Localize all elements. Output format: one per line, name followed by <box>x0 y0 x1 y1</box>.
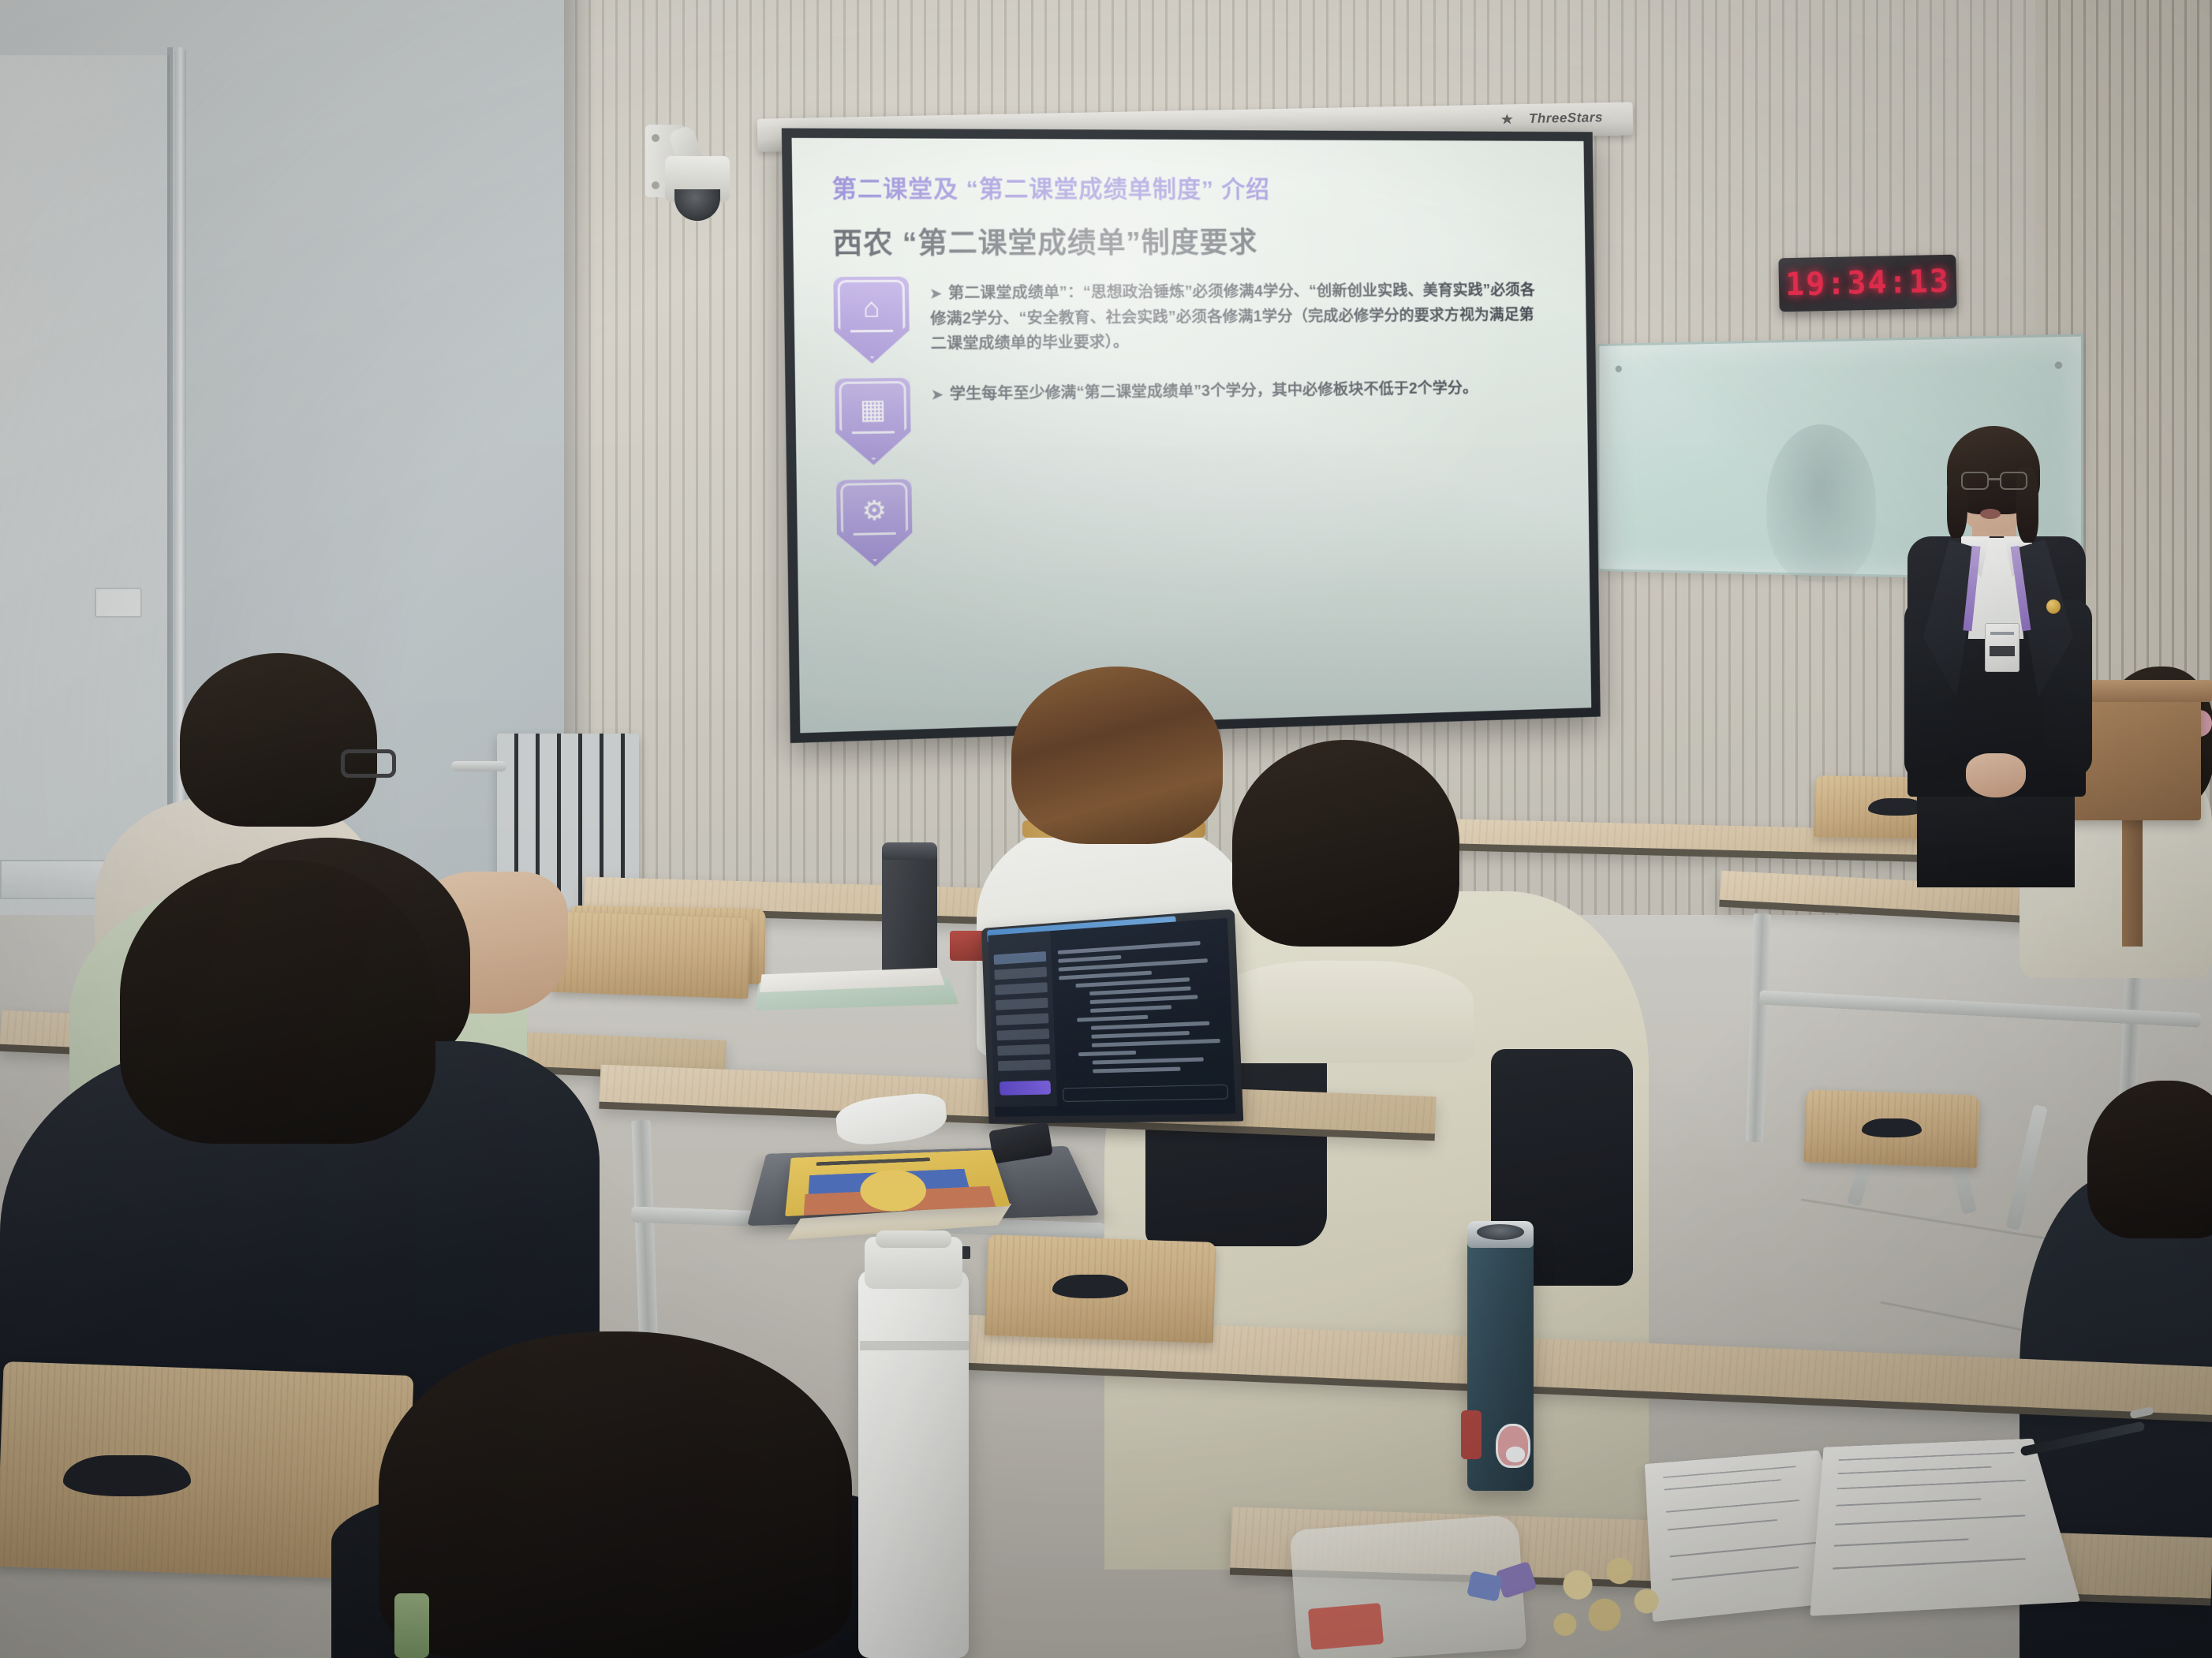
slide-bullet-item: ▦ ➤学生每年至少修满“第二课堂成绩单”3个学分，其中必修板块不低于2个学分。 <box>835 371 1558 465</box>
chat-text-line <box>1093 1057 1205 1064</box>
jacket-hood <box>1213 961 1474 1063</box>
gears-shield-icon: ⚙ <box>836 479 913 567</box>
star-icon <box>1501 114 1513 124</box>
digital-wall-clock: 19:34:13 <box>1778 255 1956 312</box>
radiator-pipe <box>451 761 506 771</box>
bar-chart-shield-glyph: ▦ <box>835 395 910 424</box>
shield-underline <box>854 532 896 536</box>
chat-text-line <box>1089 986 1190 995</box>
chat-text-line <box>1059 971 1151 980</box>
clock-time-display: 19:34:13 <box>1785 263 1951 303</box>
textbook <box>785 1150 1011 1216</box>
shield-underline <box>852 431 895 434</box>
gears-shield-glyph: ⚙ <box>836 497 912 525</box>
chat-text-line <box>1058 955 1121 963</box>
presenter-mouth <box>1980 509 2001 519</box>
bullet-arrow-icon: ➤ <box>932 387 943 402</box>
badge-photo-strip <box>1990 646 2015 656</box>
chat-text-line <box>1090 995 1198 1004</box>
snack-contents <box>1534 1537 1677 1649</box>
camera-mount-screw <box>652 134 659 142</box>
wall-outlet-box <box>95 588 142 618</box>
slide-bullet-body: 第二课堂成绩单”：“思想政治锤炼”必须修满4学分、“创新创业实践、美育实践”必须… <box>930 282 1535 353</box>
presentation-slide: 第二课堂及 “第二课堂成绩单制度” 介绍 西农 “第二课堂成绩单”制度要求 ⌂ … <box>792 138 1592 734</box>
sidebar-item[interactable] <box>996 998 1048 1010</box>
bottle-band <box>860 1341 969 1350</box>
chat-text-line <box>1058 941 1201 954</box>
slide-bullet-item: ⚙ <box>836 468 1560 567</box>
black-thermos <box>882 850 937 984</box>
sidebar-item[interactable] <box>998 1059 1051 1071</box>
home-shield-icon: ⌂ <box>833 277 910 364</box>
slide-bullet-text: ➤第二课堂成绩单”：“思想政治锤炼”必须修满4学分、“创新创业实践、美育实践”必… <box>930 274 1549 357</box>
open-notebook <box>1649 1388 2059 1649</box>
laptop-screen[interactable] <box>981 909 1243 1124</box>
slide-title: 西农 “第二课堂成绩单”制度要求 <box>832 220 1555 263</box>
chair-cloud-handle-icon <box>1862 1118 1922 1137</box>
chair-back-rest <box>551 912 750 999</box>
snack-bag-label <box>1308 1603 1384 1650</box>
sidebar-item[interactable] <box>997 1044 1050 1056</box>
green-stem-object <box>394 1593 429 1658</box>
student-hair <box>180 653 377 827</box>
wall-trim-strip <box>0 860 110 899</box>
chat-text-line <box>1093 1066 1181 1073</box>
projection-screen-surface: 第二课堂及 “第二课堂成绩单制度” 介绍 西农 “第二课堂成绩单”制度要求 ⌂ … <box>792 138 1592 734</box>
lectern-pole <box>2122 805 2143 947</box>
chair-cloud-handle-icon <box>63 1455 191 1496</box>
chat-text-line <box>1090 1005 1171 1013</box>
projection-screen: 第二课堂及 “第二课堂成绩单制度” 介绍 西农 “第二课堂成绩单”制度要求 ⌂ … <box>782 128 1601 743</box>
white-water-bottle <box>858 1270 969 1658</box>
slide-bullet-body: 学生每年至少修满“第二课堂成绩单”3个学分，其中必修板块不低于2个学分。 <box>950 379 1478 403</box>
sidebar-item[interactable] <box>994 967 1047 980</box>
camera-mount-screw <box>652 181 659 189</box>
sidebar-item[interactable] <box>996 1013 1049 1025</box>
slide-bullet-list: ⌂ ➤第二课堂成绩单”：“思想政治锤炼”必须修满4学分、“创新创业实践、美育实践… <box>833 274 1559 567</box>
wall-seam <box>167 47 173 931</box>
badge-text-line <box>1990 632 2014 635</box>
bullet-arrow-icon: ➤ <box>930 286 942 301</box>
chat-text-line <box>1078 1051 1136 1056</box>
bar-chart-shield-icon: ▦ <box>835 378 911 465</box>
presenter-skirt <box>1917 785 2075 887</box>
chat-text-line <box>1091 1031 1189 1039</box>
gold-lapel-pin-icon <box>2046 599 2061 614</box>
sidebar-item[interactable] <box>996 1029 1049 1040</box>
sidebar-item[interactable] <box>994 951 1047 965</box>
sidebar-item[interactable] <box>995 982 1048 995</box>
thermos-opening <box>1477 1224 1524 1240</box>
eyeglasses-icon <box>341 749 396 778</box>
presenter-hands <box>1966 753 2026 797</box>
chat-text-line <box>1077 1015 1148 1022</box>
notebook-page-right <box>1810 1439 2080 1616</box>
bottle-cap-handle <box>876 1230 951 1248</box>
presenter-id-badge <box>1985 623 2020 672</box>
slide-bullet-text: ➤学生每年至少修满“第二课堂成绩单”3个学分，其中必修板块不低于2个学分。 <box>931 372 1478 408</box>
chair-cloud-handle-icon <box>1052 1275 1128 1298</box>
slide-bullet-item: ⌂ ➤第二课堂成绩单”：“思想政治锤炼”必须修满4学分、“创新创业实践、美育实践… <box>833 274 1556 364</box>
slide-kicker-heading: 第二课堂及 “第二课堂成绩单制度” 介绍 <box>831 169 1554 204</box>
thermos-lid-cup <box>1379 1458 1472 1522</box>
pink-cartoon-sticker-icon <box>1496 1424 1530 1468</box>
chat-text-line <box>1075 977 1189 988</box>
eyeglasses-icon <box>1961 472 2027 487</box>
laptop-chat-input[interactable] <box>1063 1085 1228 1102</box>
student-hair <box>1232 740 1459 947</box>
whiteboard-screw <box>2055 361 2063 369</box>
student-hair <box>1011 667 1223 844</box>
chat-text-line <box>1091 1021 1209 1030</box>
black-thermos-lid <box>882 842 937 860</box>
home-shield-glyph: ⌂ <box>834 294 910 322</box>
thermos-red-sticker <box>1461 1410 1482 1459</box>
classroom-scene: 19:34:13 ThreeStars 第二课堂及 “第二课堂成绩单制度” 介绍… <box>0 0 2212 1658</box>
laptop-upgrade-button[interactable] <box>1000 1081 1051 1096</box>
shield-underline <box>850 330 893 332</box>
textbook-title-bar <box>816 1157 931 1165</box>
whiteboard-shadow <box>1767 424 1877 584</box>
student-hair <box>120 860 435 1144</box>
student-hair <box>379 1331 852 1658</box>
laptop-app-window <box>988 918 1235 1117</box>
whiteboard-screw <box>1616 365 1622 372</box>
chat-text-line <box>1092 1039 1220 1047</box>
glasses-bridge <box>1987 478 2001 480</box>
projector-screen-brand: ThreeStars <box>1529 110 1603 127</box>
